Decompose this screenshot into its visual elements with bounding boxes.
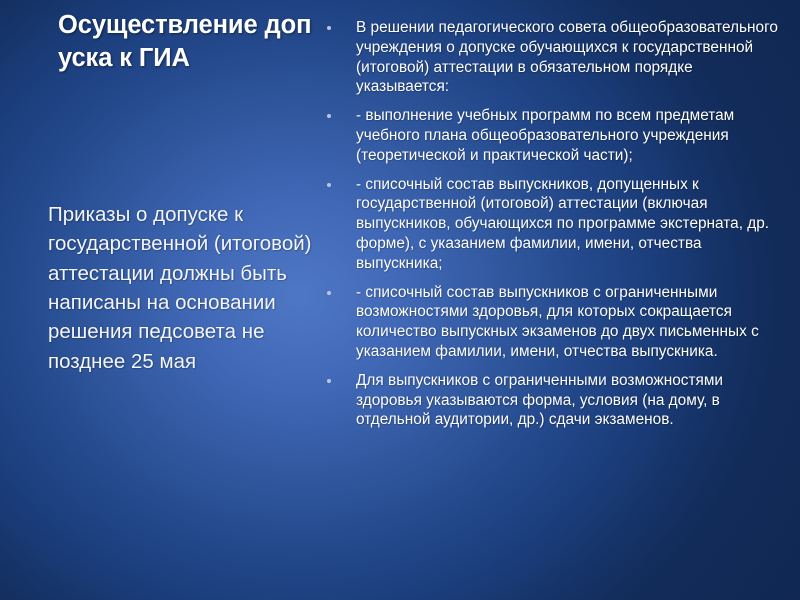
left-body-paragraph: Приказы о допуске к государственной (ито… (48, 200, 320, 376)
bullet-item: В решении педагогического совета общеобр… (322, 18, 790, 97)
slide-title: Осуществление допуска к ГИА (58, 9, 314, 74)
round-bullet-icon (327, 114, 331, 118)
slide-canvas: Осуществление допуска к ГИА Приказы о до… (0, 0, 800, 600)
bullet-item: Для выпускников с ограниченными возможно… (322, 371, 790, 430)
bullet-text: - выполнение учебных программ по всем пр… (356, 106, 790, 165)
bullet-text: Для выпускников с ограниченными возможно… (356, 371, 790, 430)
round-bullet-icon (327, 291, 331, 295)
bullet-list: В решении педагогического совета общеобр… (322, 18, 790, 430)
bullet-item: - выполнение учебных программ по всем пр… (322, 106, 790, 165)
bullet-text: В решении педагогического совета общеобр… (356, 18, 790, 97)
bullet-item: - списочный состав выпускников, допущенн… (322, 175, 790, 274)
round-bullet-icon (327, 379, 331, 383)
right-column: В решении педагогического совета общеобр… (322, 18, 790, 430)
bullet-text: - списочный состав выпускников с огранич… (356, 283, 790, 362)
left-column: Осуществление допуска к ГИА Приказы о до… (22, 0, 322, 600)
round-bullet-icon (327, 183, 331, 187)
round-bullet-icon (327, 26, 331, 30)
bullet-item: - списочный состав выпускников с огранич… (322, 283, 790, 362)
bullet-text: - списочный состав выпускников, допущенн… (356, 175, 790, 274)
